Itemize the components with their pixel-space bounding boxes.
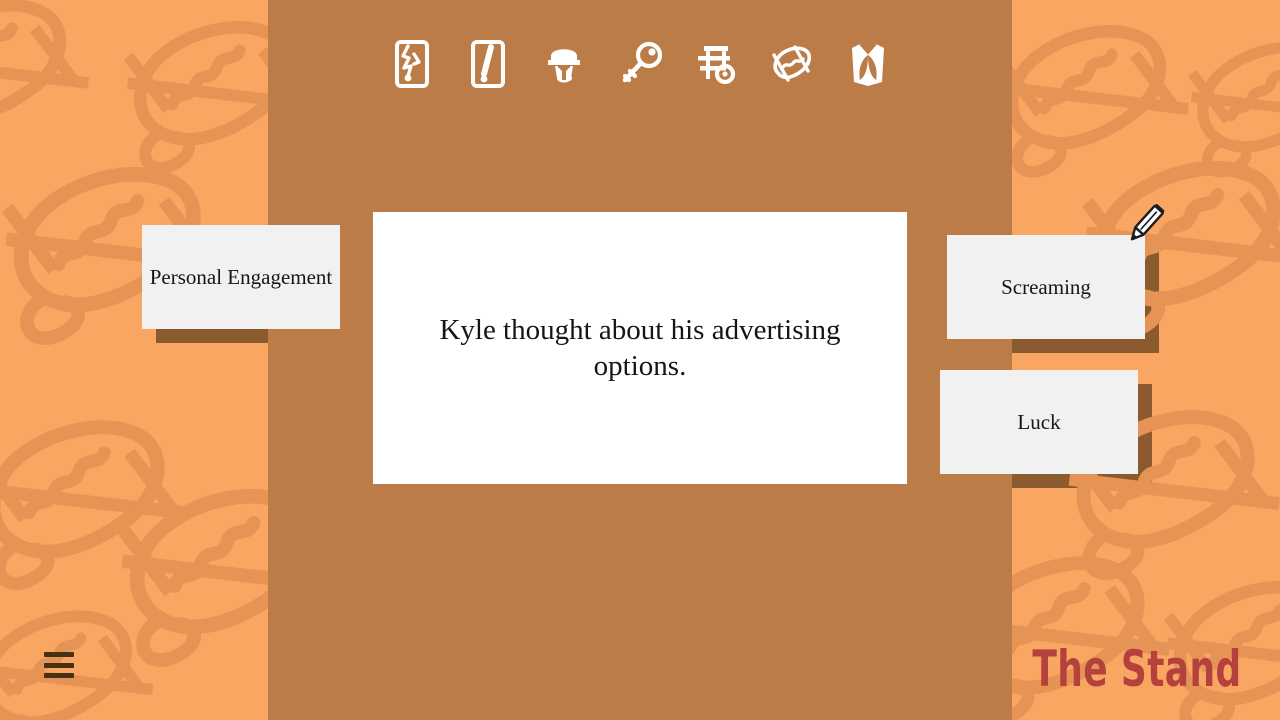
apron-icon[interactable] bbox=[846, 37, 890, 91]
choice-card-luck-text: Luck bbox=[1017, 409, 1060, 435]
choice-card-left-text: Personal Engagement bbox=[150, 264, 333, 290]
hamburger-bar-1 bbox=[44, 652, 74, 657]
key-glyph bbox=[618, 41, 662, 87]
story-card-main-text: Kyle thought about his advertising optio… bbox=[419, 312, 861, 385]
vendor-hat-icon[interactable] bbox=[542, 37, 586, 91]
food-cart-icon[interactable] bbox=[694, 37, 738, 91]
toolbar bbox=[268, 33, 1012, 95]
game-title: The Stand bbox=[1033, 640, 1242, 698]
edit-pencil-glyph bbox=[1119, 198, 1171, 250]
sausage-icon[interactable] bbox=[770, 37, 814, 91]
choice-card-luck[interactable]: Luck bbox=[940, 370, 1138, 474]
sausage-glyph bbox=[770, 42, 814, 86]
hamburger-menu-icon[interactable] bbox=[44, 652, 74, 678]
choice-card-screaming-text: Screaming bbox=[1001, 274, 1091, 300]
edit-pencil-icon[interactable] bbox=[1119, 198, 1171, 250]
phone-icon[interactable] bbox=[466, 37, 510, 91]
apron-glyph bbox=[848, 40, 888, 88]
vendor-hat-glyph bbox=[545, 40, 583, 88]
choice-card-screaming[interactable]: Screaming bbox=[947, 235, 1145, 339]
phone-glyph bbox=[471, 40, 505, 88]
hamburger-bar-2 bbox=[44, 663, 74, 668]
cracked-phone-glyph bbox=[395, 40, 429, 88]
story-card-main[interactable]: Kyle thought about his advertising optio… bbox=[373, 212, 907, 484]
food-cart-glyph bbox=[694, 42, 738, 86]
key-icon[interactable] bbox=[618, 37, 662, 91]
hamburger-bar-3 bbox=[44, 673, 74, 678]
choice-card-left[interactable]: Personal Engagement bbox=[142, 225, 340, 329]
cracked-phone-icon[interactable] bbox=[390, 37, 434, 91]
